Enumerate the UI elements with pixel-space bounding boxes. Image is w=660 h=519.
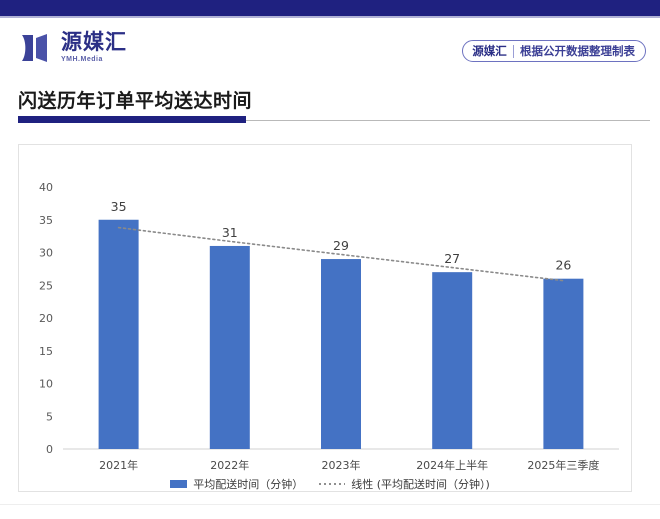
y-axis-tick-label: 35 [39,214,53,227]
brand-logo: 源媒汇 YMH.Media [20,32,127,63]
top-accent-strip-shadow [0,16,660,18]
chart-card: 0510152025303540352021年312022年292023年272… [18,144,632,492]
y-axis-tick-label: 0 [46,443,53,456]
x-axis-category-label: 2024年上半年 [416,458,488,472]
chart-legend: 平均配送时间（分钟） 线性 (平均配送时间（分钟）) [0,476,660,492]
bar-value-label: 35 [111,199,127,214]
title-accent-bar [18,116,246,123]
chart-bar[interactable] [321,259,361,449]
x-axis-category-label: 2023年 [322,458,361,472]
x-axis-category-label: 2021年 [99,458,138,472]
bar-value-label: 29 [333,238,349,253]
y-axis-tick-label: 30 [39,247,53,260]
x-axis-category-label: 2025年三季度 [527,458,599,472]
chart-bar[interactable] [99,220,139,449]
bar-value-label: 27 [444,251,460,266]
top-accent-strip [0,0,660,16]
y-axis-tick-label: 10 [39,378,53,391]
brand-logo-text: 源媒汇 YMH.Media [61,32,127,63]
brand-name-en: YMH.Media [61,56,127,63]
chart-bar[interactable] [543,279,583,449]
ymh-logo-mark-icon [20,33,54,63]
source-badge-key: 源媒汇 [472,43,513,59]
bar-value-label: 26 [555,258,571,273]
source-badge: 源媒汇 根据公开数据整理制表 [462,40,646,62]
legend-label-trendline: 线性 (平均配送时间（分钟）) [351,476,490,492]
legend-label-bars: 平均配送时间（分钟） [193,476,303,492]
source-badge-value: 根据公开数据整理制表 [520,43,635,59]
bar-chart-plot: 0510152025303540352021年312022年292023年272… [19,145,633,493]
legend-item-trendline[interactable]: 线性 (平均配送时间（分钟）) [319,476,490,492]
y-axis-tick-label: 5 [46,410,53,423]
y-axis-tick-label: 15 [39,345,53,358]
y-axis-tick-label: 20 [39,312,53,325]
source-badge-divider [513,45,514,58]
legend-dotted-line-icon [319,483,345,485]
brand-name-cn: 源媒汇 [61,32,127,53]
legend-item-bars[interactable]: 平均配送时间（分钟） [170,476,303,492]
page-title: 闪送历年订单平均送达时间 [18,86,252,113]
chart-bar[interactable] [210,246,250,449]
y-axis-tick-label: 25 [39,279,53,292]
y-axis-tick-label: 40 [39,181,53,194]
bottom-rule [0,504,660,505]
legend-swatch-icon [170,480,187,488]
x-axis-category-label: 2022年 [210,458,249,472]
bar-value-label: 31 [222,225,238,240]
chart-bar[interactable] [432,272,472,449]
